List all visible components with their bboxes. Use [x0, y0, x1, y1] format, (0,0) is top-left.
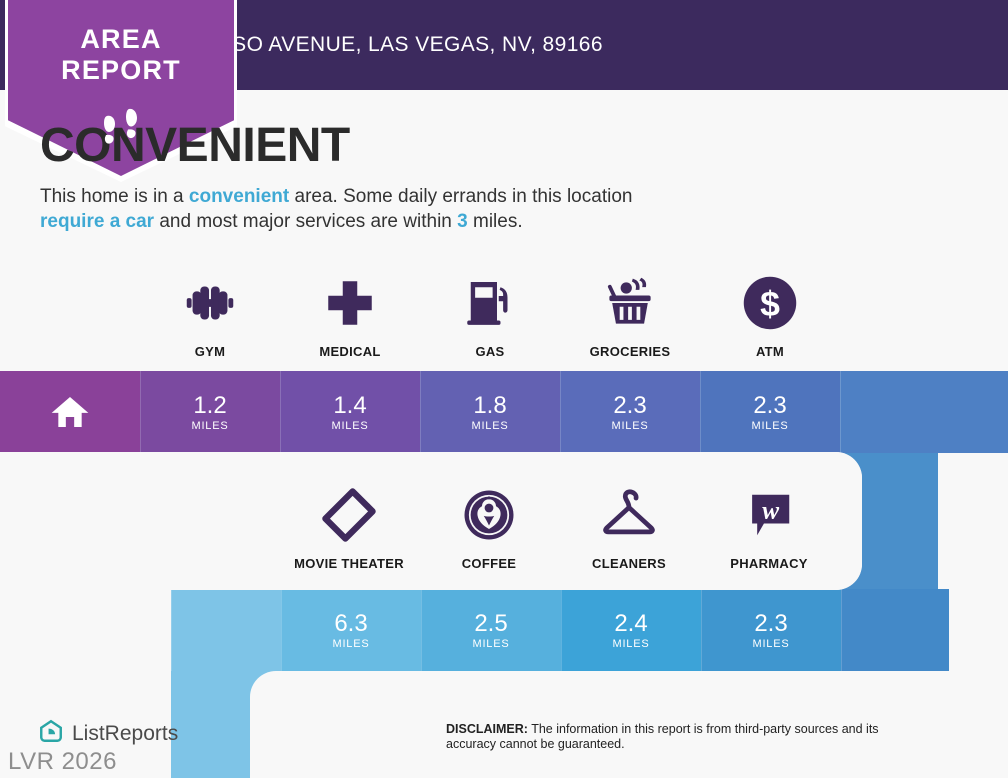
subtitle-part-2: area. Some daily errands in this locatio… — [289, 186, 632, 207]
distance-bar-row-1: 1.2 MILES 1.4 MILES 1.8 MILES 2.3 MILES … — [0, 371, 1008, 453]
dumbbell-icon — [179, 270, 241, 336]
distance-value: 1.4 — [333, 393, 366, 419]
distance-value: 2.3 — [753, 393, 786, 419]
distance-unit: MILES — [751, 420, 788, 432]
brand-name: ListReports — [72, 722, 178, 746]
dollar-circle-icon: $ — [740, 270, 800, 336]
distance-unit: MILES — [471, 420, 508, 432]
disclaimer: DISCLAIMER: The information in this repo… — [446, 722, 916, 752]
amenity-label: COFFEE — [462, 556, 517, 571]
distance-cell-movie-theater: 6.3 MILES — [281, 589, 421, 671]
distance-cell-cleaners: 2.4 MILES — [561, 589, 701, 671]
subtitle-highlight-2: require a car — [40, 211, 154, 232]
distance-unit: MILES — [752, 638, 789, 650]
amenity-groceries: GROCERIES — [560, 270, 700, 359]
badge-text: AREA REPORT — [0, 24, 242, 86]
amenity-gym: GYM — [140, 270, 280, 359]
distance-unit: MILES — [331, 420, 368, 432]
amenity-pharmacy: w PHARMACY — [699, 482, 839, 571]
badge-line-2: REPORT — [0, 55, 242, 86]
amenity-cleaners: CLEANERS — [559, 482, 699, 571]
distance-bar-row-2: 6.3 MILES 2.5 MILES 2.4 MILES 2.3 MILES — [0, 589, 1008, 671]
badge-line-1: AREA — [0, 24, 242, 55]
distance-cell-medical: 1.4 MILES — [280, 371, 420, 453]
distance-cell-gas: 1.8 MILES — [420, 371, 560, 453]
distance-cell-pharmacy: 2.3 MILES — [701, 589, 841, 671]
distance-value: 2.3 — [613, 393, 646, 419]
distance-cell-coffee: 2.5 MILES — [421, 589, 561, 671]
snake-notch-left — [250, 671, 370, 778]
page-subtitle: This home is in a convenient area. Some … — [40, 184, 700, 234]
amenity-label: MOVIE THEATER — [294, 556, 404, 571]
distance-cell-tail — [840, 371, 1008, 453]
listreports-logo-icon — [38, 718, 64, 749]
subtitle-part-1: This home is in a — [40, 186, 189, 207]
amenity-coffee: COFFEE — [419, 482, 559, 571]
distance-value: 2.3 — [754, 611, 787, 637]
amenity-icon-row-1: GYM MEDICAL GAS — [140, 270, 860, 359]
distance-unit: MILES — [472, 638, 509, 650]
amenity-label: ATM — [756, 344, 784, 359]
distance-value: 1.2 — [193, 393, 226, 419]
amenity-label: GAS — [475, 344, 504, 359]
amenity-movie-theater: MOVIE THEATER — [279, 482, 419, 571]
watermark-text: LVR 2026 — [8, 748, 117, 776]
subtitle-highlight-3: 3 — [457, 211, 468, 232]
svg-text:w: w — [762, 496, 779, 524]
amenity-label: CLEANERS — [592, 556, 666, 571]
subtitle-part-4: miles. — [468, 211, 523, 232]
distance-value: 2.4 — [614, 611, 647, 637]
subtitle-highlight-1: convenient — [189, 186, 289, 207]
brand-logo: ListReports — [38, 718, 178, 749]
grocery-basket-icon — [600, 270, 660, 336]
distance-value: 1.8 — [473, 393, 506, 419]
amenity-label: PHARMACY — [730, 556, 808, 571]
amenity-icon-row-2: MOVIE THEATER COFFEE — [279, 482, 839, 571]
amenity-label: MEDICAL — [319, 344, 380, 359]
page-title: CONVENIENT — [40, 118, 350, 173]
distance-value: 6.3 — [334, 611, 367, 637]
walgreens-w-icon: w — [742, 482, 796, 548]
clothes-hanger-icon — [599, 482, 659, 548]
subtitle-part-3: and most major services are within — [154, 211, 457, 232]
distance-unit: MILES — [191, 420, 228, 432]
distance-cell-groceries: 2.3 MILES — [560, 371, 700, 453]
distance-unit: MILES — [332, 638, 369, 650]
medical-cross-icon — [321, 270, 379, 336]
amenity-gas: GAS — [420, 270, 560, 359]
amenity-medical: MEDICAL — [280, 270, 420, 359]
disclaimer-label: DISCLAIMER: — [446, 722, 528, 736]
distance-unit: MILES — [612, 638, 649, 650]
gas-pump-icon — [462, 270, 518, 336]
svg-text:$: $ — [760, 284, 780, 324]
distance-cell-lead — [0, 589, 171, 671]
distance-cell-atm: 2.3 MILES — [700, 371, 840, 453]
home-icon — [50, 392, 90, 432]
amenity-label: GROCERIES — [590, 344, 671, 359]
home-marker-cell — [0, 371, 140, 453]
distance-value: 2.5 — [474, 611, 507, 637]
distance-cell-lead-fill — [171, 589, 281, 671]
distance-cell-tail-2 — [841, 589, 949, 671]
ticket-icon — [320, 482, 378, 548]
footprints-icon — [97, 104, 145, 152]
area-report-page: 10276 THURSO AVENUE, LAS VEGAS, NV, 8916… — [0, 0, 1008, 778]
distance-cell-gym: 1.2 MILES — [140, 371, 280, 453]
amenity-label: GYM — [195, 344, 226, 359]
amenity-atm: $ ATM — [700, 270, 840, 359]
starbucks-siren-icon — [461, 482, 517, 548]
distance-unit: MILES — [611, 420, 648, 432]
